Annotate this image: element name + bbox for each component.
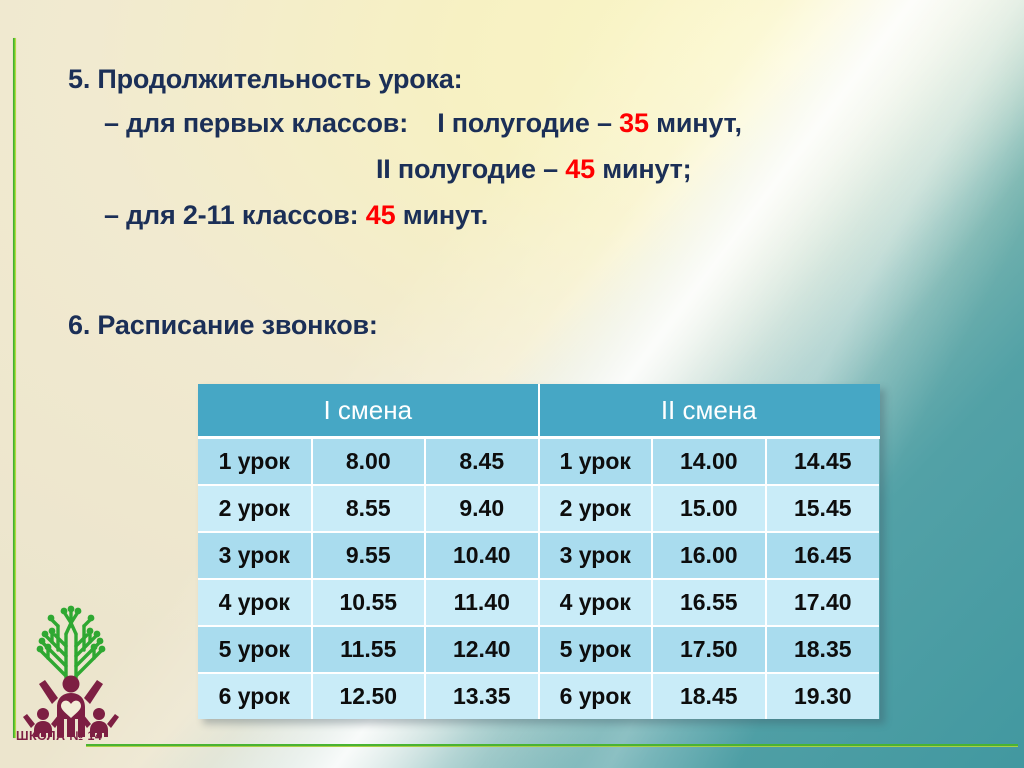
table-cell: 12.50 (312, 673, 426, 719)
table-cell: 8.45 (425, 438, 539, 486)
bell-schedule-table-container: I смена II смена 1 урок8.008.451 урок14.… (198, 384, 880, 719)
table-cell: 2 урок (198, 485, 312, 532)
table-cell: 9.40 (425, 485, 539, 532)
decorative-horizontal-green-rule (86, 744, 1018, 747)
table-cell: 11.55 (312, 626, 426, 673)
table-cell: 3 урок (539, 532, 653, 579)
school-logo-caption: ШКОЛА № 14 (16, 729, 102, 743)
table-cell: 16.00 (652, 532, 766, 579)
other-classes-value: 45 (366, 200, 396, 230)
table-cell: 2 урок (539, 485, 653, 532)
table-row: 6 урок12.5013.356 урок18.4519.30 (198, 673, 879, 719)
table-row: 5 урок11.5512.405 урок17.5018.35 (198, 626, 879, 673)
header-shift-1: I смена (198, 384, 539, 438)
table-header-row: I смена II смена (198, 384, 879, 438)
term2-value: 45 (565, 154, 595, 184)
table-cell: 14.00 (652, 438, 766, 486)
table-cell: 17.50 (652, 626, 766, 673)
table-cell: 6 урок (198, 673, 312, 719)
first-classes-term1-line: – для первых классов: I полугодие – 35 м… (104, 106, 742, 140)
spacer-1 (408, 108, 437, 138)
table-body: 1 урок8.008.451 урок14.0014.452 урок8.55… (198, 438, 879, 720)
other-classes-line: – для 2-11 классов: 45 минут. (104, 198, 488, 232)
table-cell: 15.00 (652, 485, 766, 532)
table-row: 2 урок8.559.402 урок15.0015.45 (198, 485, 879, 532)
term1-value: 35 (619, 108, 649, 138)
spacer-7 (395, 200, 402, 230)
spacer-6 (358, 200, 365, 230)
header-shift-2: II смена (539, 384, 880, 438)
term1-label: I полугодие – (437, 108, 612, 138)
table-cell: 3 урок (198, 532, 312, 579)
table-row: 1 урок8.008.451 урок14.0014.45 (198, 438, 879, 486)
table-cell: 8.00 (312, 438, 426, 486)
table-cell: 18.35 (766, 626, 880, 673)
school-logo (18, 592, 128, 742)
table-cell: 13.35 (425, 673, 539, 719)
table-cell: 10.40 (425, 532, 539, 579)
table-row: 3 урок9.5510.403 урок16.0016.45 (198, 532, 879, 579)
term2-label: II полугодие – (376, 154, 558, 184)
table-cell: 11.40 (425, 579, 539, 626)
table-row: 4 урок10.5511.404 урок16.5517.40 (198, 579, 879, 626)
table-cell: 15.45 (766, 485, 880, 532)
table-cell: 16.45 (766, 532, 880, 579)
table-cell: 14.45 (766, 438, 880, 486)
table-cell: 9.55 (312, 532, 426, 579)
table-cell: 12.40 (425, 626, 539, 673)
table-cell: 5 урок (539, 626, 653, 673)
bell-schedule-table: I смена II смена 1 урок8.008.451 урок14.… (198, 384, 880, 719)
term2-unit: минут; (602, 154, 691, 184)
table-cell: 17.40 (766, 579, 880, 626)
table-cell: 1 урок (539, 438, 653, 486)
table-cell: 16.55 (652, 579, 766, 626)
table-head: I смена II смена (198, 384, 879, 438)
first-classes-term2-line: II полугодие – 45 минут; (376, 152, 691, 186)
table-cell: 18.45 (652, 673, 766, 719)
other-classes-unit: минут. (403, 200, 488, 230)
school-logo-graphic (18, 592, 128, 742)
table-cell: 10.55 (312, 579, 426, 626)
slide-canvas: 5. Продолжительность урока: – для первых… (0, 0, 1024, 768)
first-classes-label: – для первых классов: (104, 108, 408, 138)
bell-schedule-heading: 6. Расписание звонков: (68, 308, 378, 342)
table-cell: 4 урок (198, 579, 312, 626)
table-cell: 5 урок (198, 626, 312, 673)
table-cell: 8.55 (312, 485, 426, 532)
term1-unit: минут, (656, 108, 742, 138)
table-cell: 6 урок (539, 673, 653, 719)
table-cell: 1 урок (198, 438, 312, 486)
other-classes-label: – для 2-11 классов: (104, 200, 358, 230)
lesson-duration-heading: 5. Продолжительность урока: (68, 62, 462, 96)
decorative-vertical-green-rule (13, 38, 16, 738)
table-cell: 19.30 (766, 673, 880, 719)
table-cell: 4 урок (539, 579, 653, 626)
spacer-3 (649, 108, 656, 138)
